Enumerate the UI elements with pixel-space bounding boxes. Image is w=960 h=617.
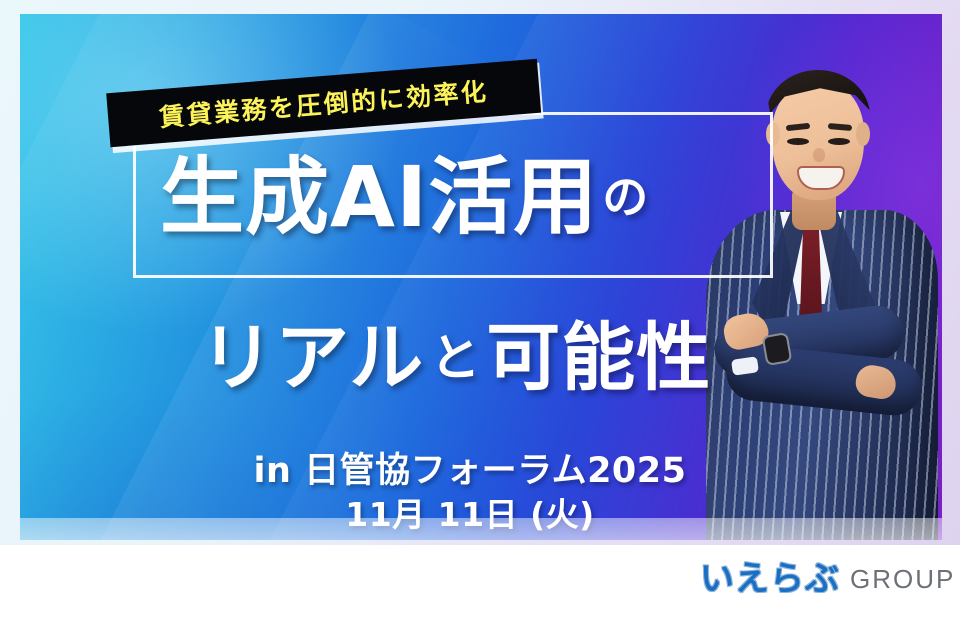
headline-line-1: 生成AI活用 の bbox=[160, 145, 780, 249]
logo-char-4: ぶ bbox=[805, 562, 840, 596]
page-root: 生成AI活用 の 賃貸業務を圧倒的に効率化 リアル と 可能性 in 日管協フォ… bbox=[0, 0, 960, 617]
logo-char-2: え bbox=[735, 562, 770, 596]
headline-line-2-mid: と bbox=[430, 333, 480, 383]
speaker-nose bbox=[813, 148, 825, 162]
headline-line-2: リアル と 可能性 bbox=[200, 310, 760, 406]
logo-char-1: い bbox=[700, 562, 735, 596]
event-subtitle: in 日管協フォーラム2025 bbox=[160, 442, 780, 493]
brand-logo: い え ら ぶ GROUP bbox=[700, 562, 955, 596]
speaker-eye-left bbox=[787, 138, 809, 145]
headline-line-1-suffix: の bbox=[602, 174, 648, 220]
headline-line-2-part1: リアル bbox=[200, 321, 424, 395]
ielove-logo-mark: い え ら ぶ bbox=[700, 562, 840, 596]
logo-char-3: ら bbox=[770, 562, 805, 596]
speaker-ear-right bbox=[856, 122, 870, 146]
headline-line-1-main: 生成AI活用 bbox=[160, 155, 598, 239]
speaker-eye-right bbox=[828, 138, 850, 145]
logo-group-word: GROUP bbox=[850, 564, 955, 595]
banner-bottom-strip bbox=[20, 518, 942, 540]
headline-line-2-part2: 可能性 bbox=[486, 321, 711, 395]
wristwatch-icon bbox=[762, 332, 793, 366]
promo-banner: 生成AI活用 の 賃貸業務を圧倒的に効率化 リアル と 可能性 in 日管協フォ… bbox=[20, 14, 942, 540]
